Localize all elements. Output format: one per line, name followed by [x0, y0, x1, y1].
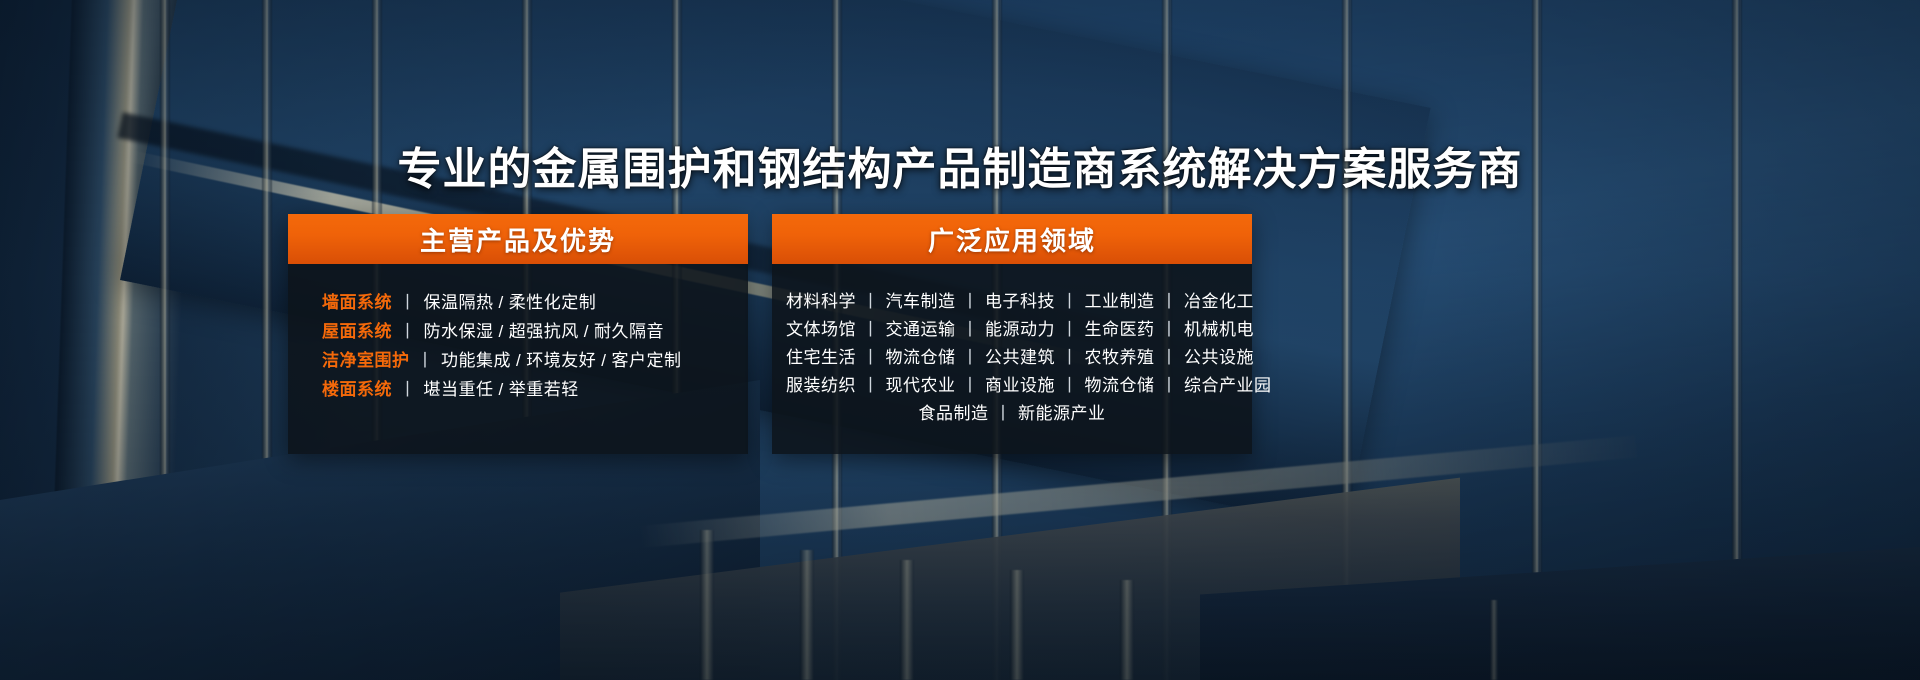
page-title: 专业的金属围护和钢结构产品制造商系统解决方案服务商 — [0, 133, 1920, 197]
pipe-separator: 丨 — [1055, 320, 1085, 339]
pipe-separator: 丨 — [956, 320, 986, 339]
banner-content: 专业的金属围护和钢结构产品制造商系统解决方案服务商 主营产品及优势 墙面系统丨保… — [0, 0, 1920, 680]
pipe-separator: 丨 — [856, 320, 886, 339]
slash-separator: / — [579, 322, 594, 341]
product-row: 屋面系统丨防水保湿/超强抗风/耐久隔音 — [322, 317, 748, 346]
product-feature: 功能集成 — [441, 351, 511, 370]
application-field: 冶金化工 — [1184, 292, 1254, 311]
pipe-separator: 丨 — [856, 292, 886, 311]
pipe-separator: 丨 — [856, 348, 886, 367]
application-field: 商业设施 — [985, 376, 1055, 395]
field-row: 服装纺织丨现代农业丨商业设施丨物流仓储丨综合产业园 — [786, 372, 1238, 400]
pipe-separator: 丨 — [989, 404, 1019, 423]
pipe-separator: 丨 — [1055, 292, 1085, 311]
slash-separator: / — [494, 293, 509, 312]
product-row: 墙面系统丨保温隔热/柔性化定制 — [322, 288, 748, 317]
fields-card-body: 材料科学丨汽车制造丨电子科技丨工业制造丨冶金化工文体场馆丨交通运输丨能源动力丨生… — [772, 264, 1252, 454]
pipe-separator: 丨 — [1155, 320, 1185, 339]
pipe-separator: 丨 — [392, 293, 424, 312]
application-field: 综合产业园 — [1184, 376, 1272, 395]
application-field: 服装纺织 — [786, 376, 856, 395]
fields-card: 广泛应用领域 材料科学丨汽车制造丨电子科技丨工业制造丨冶金化工文体场馆丨交通运输… — [772, 214, 1252, 454]
product-feature: 环境友好 — [526, 351, 596, 370]
application-field: 物流仓储 — [886, 348, 956, 367]
product-feature: 耐久隔音 — [594, 322, 664, 341]
product-row: 楼面系统丨堪当重任/举重若轻 — [322, 375, 748, 404]
cards-container: 主营产品及优势 墙面系统丨保温隔热/柔性化定制屋面系统丨防水保湿/超强抗风/耐久… — [288, 214, 1252, 454]
product-name: 墙面系统 — [322, 293, 392, 312]
product-name: 屋面系统 — [322, 322, 392, 341]
products-card-title: 主营产品及优势 — [288, 214, 748, 264]
application-field: 住宅生活 — [786, 348, 856, 367]
application-field: 食品制造 — [919, 404, 989, 423]
application-field: 能源动力 — [985, 320, 1055, 339]
pipe-separator: 丨 — [856, 376, 886, 395]
field-row: 住宅生活丨物流仓储丨公共建筑丨农牧养殖丨公共设施 — [786, 344, 1238, 372]
slash-separator: / — [511, 351, 526, 370]
application-field: 新能源产业 — [1018, 404, 1106, 423]
pipe-separator: 丨 — [410, 351, 442, 370]
pipe-separator: 丨 — [956, 348, 986, 367]
application-field: 生命医药 — [1085, 320, 1155, 339]
pipe-separator: 丨 — [1155, 292, 1185, 311]
pipe-separator: 丨 — [1055, 348, 1085, 367]
pipe-separator: 丨 — [1155, 376, 1185, 395]
product-row: 洁净室围护丨功能集成/环境友好/客户定制 — [322, 346, 748, 375]
product-feature: 柔性化定制 — [509, 293, 597, 312]
slash-separator: / — [494, 322, 509, 341]
pipe-separator: 丨 — [956, 376, 986, 395]
pipe-separator: 丨 — [1155, 348, 1185, 367]
field-row: 文体场馆丨交通运输丨能源动力丨生命医药丨机械机电 — [786, 316, 1238, 344]
product-feature: 举重若轻 — [509, 380, 579, 399]
product-name: 洁净室围护 — [322, 351, 410, 370]
slash-separator: / — [494, 380, 509, 399]
products-card-body: 墙面系统丨保温隔热/柔性化定制屋面系统丨防水保湿/超强抗风/耐久隔音洁净室围护丨… — [288, 264, 748, 430]
product-feature: 超强抗风 — [509, 322, 579, 341]
application-field: 现代农业 — [886, 376, 956, 395]
fields-card-title: 广泛应用领域 — [772, 214, 1252, 264]
pipe-separator: 丨 — [956, 292, 986, 311]
products-card: 主营产品及优势 墙面系统丨保温隔热/柔性化定制屋面系统丨防水保湿/超强抗风/耐久… — [288, 214, 748, 454]
application-field: 文体场馆 — [786, 320, 856, 339]
product-feature: 客户定制 — [611, 351, 681, 370]
pipe-separator: 丨 — [392, 322, 424, 341]
field-row: 材料科学丨汽车制造丨电子科技丨工业制造丨冶金化工 — [786, 288, 1238, 316]
pipe-separator: 丨 — [392, 380, 424, 399]
application-field: 公共设施 — [1184, 348, 1254, 367]
product-name: 楼面系统 — [322, 380, 392, 399]
application-field: 公共建筑 — [985, 348, 1055, 367]
application-field: 材料科学 — [786, 292, 856, 311]
application-field: 物流仓储 — [1085, 376, 1155, 395]
pipe-separator: 丨 — [1055, 376, 1085, 395]
application-field: 电子科技 — [985, 292, 1055, 311]
product-feature: 堪当重任 — [424, 380, 494, 399]
application-field: 工业制造 — [1085, 292, 1155, 311]
application-field: 交通运输 — [886, 320, 956, 339]
field-row: 食品制造丨新能源产业 — [786, 400, 1238, 428]
slash-separator: / — [596, 351, 611, 370]
application-field: 机械机电 — [1184, 320, 1254, 339]
product-feature: 保温隔热 — [424, 293, 494, 312]
product-feature: 防水保湿 — [424, 322, 494, 341]
application-field: 农牧养殖 — [1085, 348, 1155, 367]
application-field: 汽车制造 — [886, 292, 956, 311]
